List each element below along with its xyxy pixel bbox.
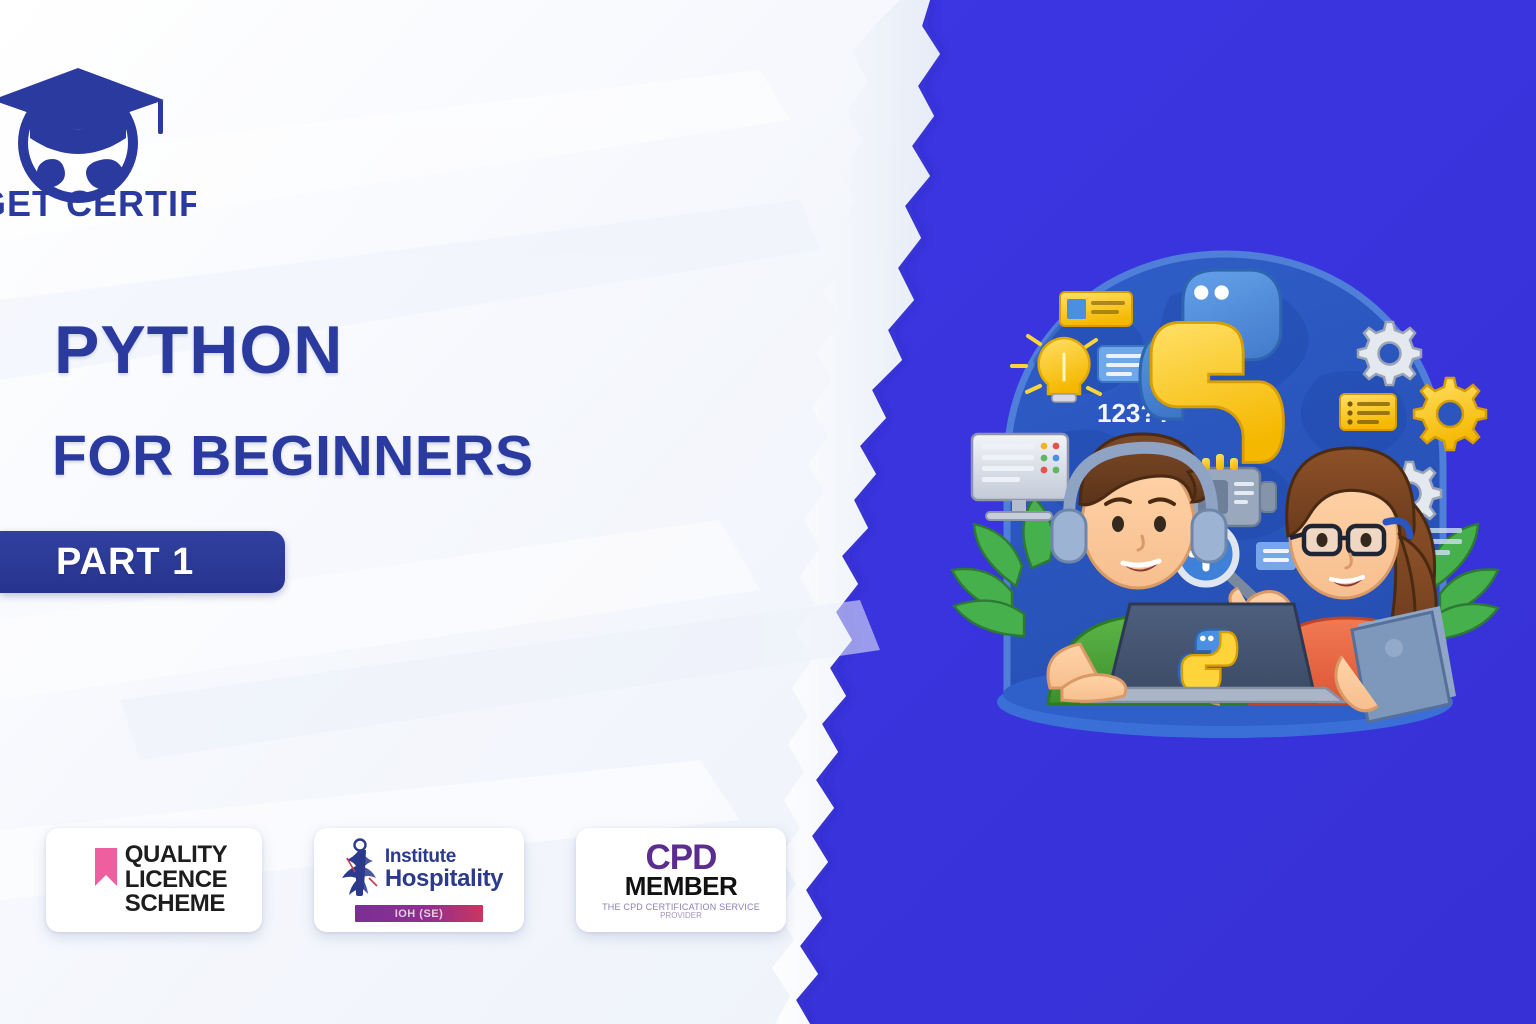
qls-line-3: SCHEME — [125, 892, 228, 917]
part-badge: PART 1 — [0, 531, 285, 593]
badge-quality-licence-scheme[interactable]: QUALITY LICENCE SCHEME — [46, 828, 262, 932]
badge-institute-of-hospitality[interactable]: Institute Hospitality IOH (SE) — [314, 828, 524, 932]
brand-logo[interactable]: GET CERTIFY — [0, 38, 196, 228]
page-title-line2: FOR BEGINNERS — [52, 428, 534, 485]
heraldic-crest-icon — [335, 838, 383, 900]
badge-qls-text: QUALITY LICENCE SCHEME — [125, 843, 228, 917]
qls-line-2: LICENCE — [125, 868, 228, 893]
cpd-subtitle: MEMBER — [625, 873, 738, 899]
gear-icon — [1358, 322, 1421, 385]
banner-canvas: GET CERTIFY PYTHON FOR BEGINNERS PART 1 … — [0, 0, 1536, 1024]
badge-cpd-member[interactable]: CPD MEMBER THE CPD CERTIFICATION SERVICE… — [576, 828, 786, 932]
logo-text: GET CERTIFY — [0, 183, 196, 224]
ih-word-1: Institute — [385, 848, 503, 867]
cpd-title: CPD — [646, 840, 717, 875]
gear-icon — [1414, 378, 1486, 450]
title-block: PYTHON FOR BEGINNERS — [52, 316, 534, 485]
qls-line-1: QUALITY — [125, 843, 228, 868]
part-badge-label: PART 1 — [56, 541, 194, 584]
yellow-list-card-icon — [1340, 394, 1396, 430]
yellow-id-card-icon — [1060, 292, 1132, 326]
ih-banner: IOH (SE) — [355, 905, 483, 922]
ih-banner-text: IOH (SE) — [395, 908, 444, 920]
ih-word-2: Hospitality — [385, 867, 503, 891]
accreditation-row: QUALITY LICENCE SCHEME — [46, 828, 786, 932]
bookmark-ribbon-icon — [95, 848, 117, 886]
cpd-fineprint-2: PROVIDER — [660, 912, 702, 920]
page-title-line1: PYTHON — [54, 316, 534, 384]
hero-illustration: 123?? — [920, 236, 1530, 776]
